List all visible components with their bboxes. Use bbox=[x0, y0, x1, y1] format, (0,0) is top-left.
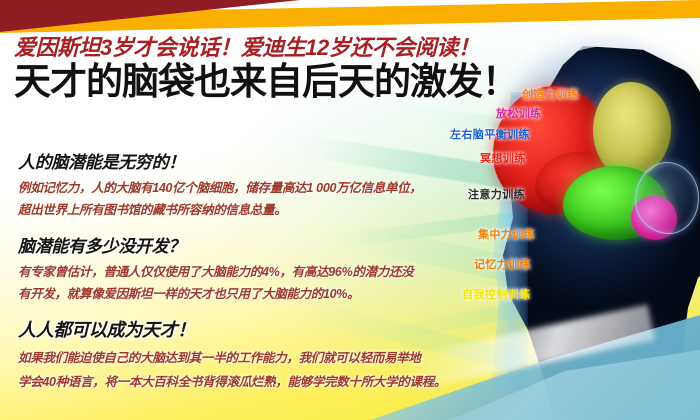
training-label: 创造力训练 bbox=[522, 86, 579, 102]
section-line: 学会40种语言，将一本大百科全书背得滚瓜烂熟，能够学完数十所大学的课程。 bbox=[18, 371, 463, 395]
headline-subtitle: 爱因斯坦3岁才会说话！爱迪生12岁还不会阅读！ bbox=[14, 36, 574, 61]
brain-lobe-wireframe-icon bbox=[635, 162, 699, 234]
section-line: 例如记忆力，人的大脑有140亿个脑细胞，储存量高达1 000万亿信息单位， bbox=[18, 178, 463, 200]
training-label: 冥想训练 bbox=[480, 150, 526, 166]
section-line: 如果我们能迫使自己的大脑达到其一半的工作能力，我们就可以轻而易举地 bbox=[18, 347, 463, 371]
content-section: 人的脑潜能是无穷的！ 例如记忆力，人的大脑有140亿个脑细胞，储存量高达1 00… bbox=[18, 148, 463, 221]
training-label: 左右脑平衡训练 bbox=[450, 126, 530, 142]
training-label: 自我控制训练 bbox=[462, 286, 530, 302]
training-label-list: 创造力训练 放松训练 左右脑平衡训练 冥想训练 注意力训练 集中力训练 记忆力训… bbox=[430, 86, 610, 316]
section-title: 脑潜能有多少没开发？ bbox=[18, 232, 463, 257]
section-line: 有开发，就算像爱因斯坦一样的天才也只用了大脑能力的10%。 bbox=[18, 284, 463, 306]
content-section: 人人都可以成为天才！ 如果我们能迫使自己的大脑达到其一半的工作能力，我们就可以轻… bbox=[18, 316, 463, 395]
training-label: 记忆力训练 bbox=[474, 256, 531, 272]
section-title: 人的脑潜能是无穷的！ bbox=[18, 148, 463, 173]
training-label: 注意力训练 bbox=[468, 186, 525, 202]
section-line: 有专家曾估计，普通人仅仅使用了大脑能力的4%，有高达96%的潜力还没 bbox=[18, 262, 463, 284]
section-line: 超出世界上所有图书馆的藏书所容纳的信息总量。 bbox=[18, 200, 463, 222]
training-label: 集中力训练 bbox=[478, 226, 535, 242]
content-section: 脑潜能有多少没开发？ 有专家曾估计，普通人仅仅使用了大脑能力的4%，有高达96%… bbox=[18, 232, 463, 305]
section-title: 人人都可以成为天才！ bbox=[18, 316, 463, 342]
poster-canvas: 爱因斯坦3岁才会说话！爱迪生12岁还不会阅读！ 天才的脑袋也来自后天的激发！ 人… bbox=[0, 0, 700, 420]
content-sections: 人的脑潜能是无穷的！ 例如记忆力，人的大脑有140亿个脑细胞，储存量高达1 00… bbox=[18, 148, 463, 406]
training-label: 放松训练 bbox=[496, 105, 542, 121]
